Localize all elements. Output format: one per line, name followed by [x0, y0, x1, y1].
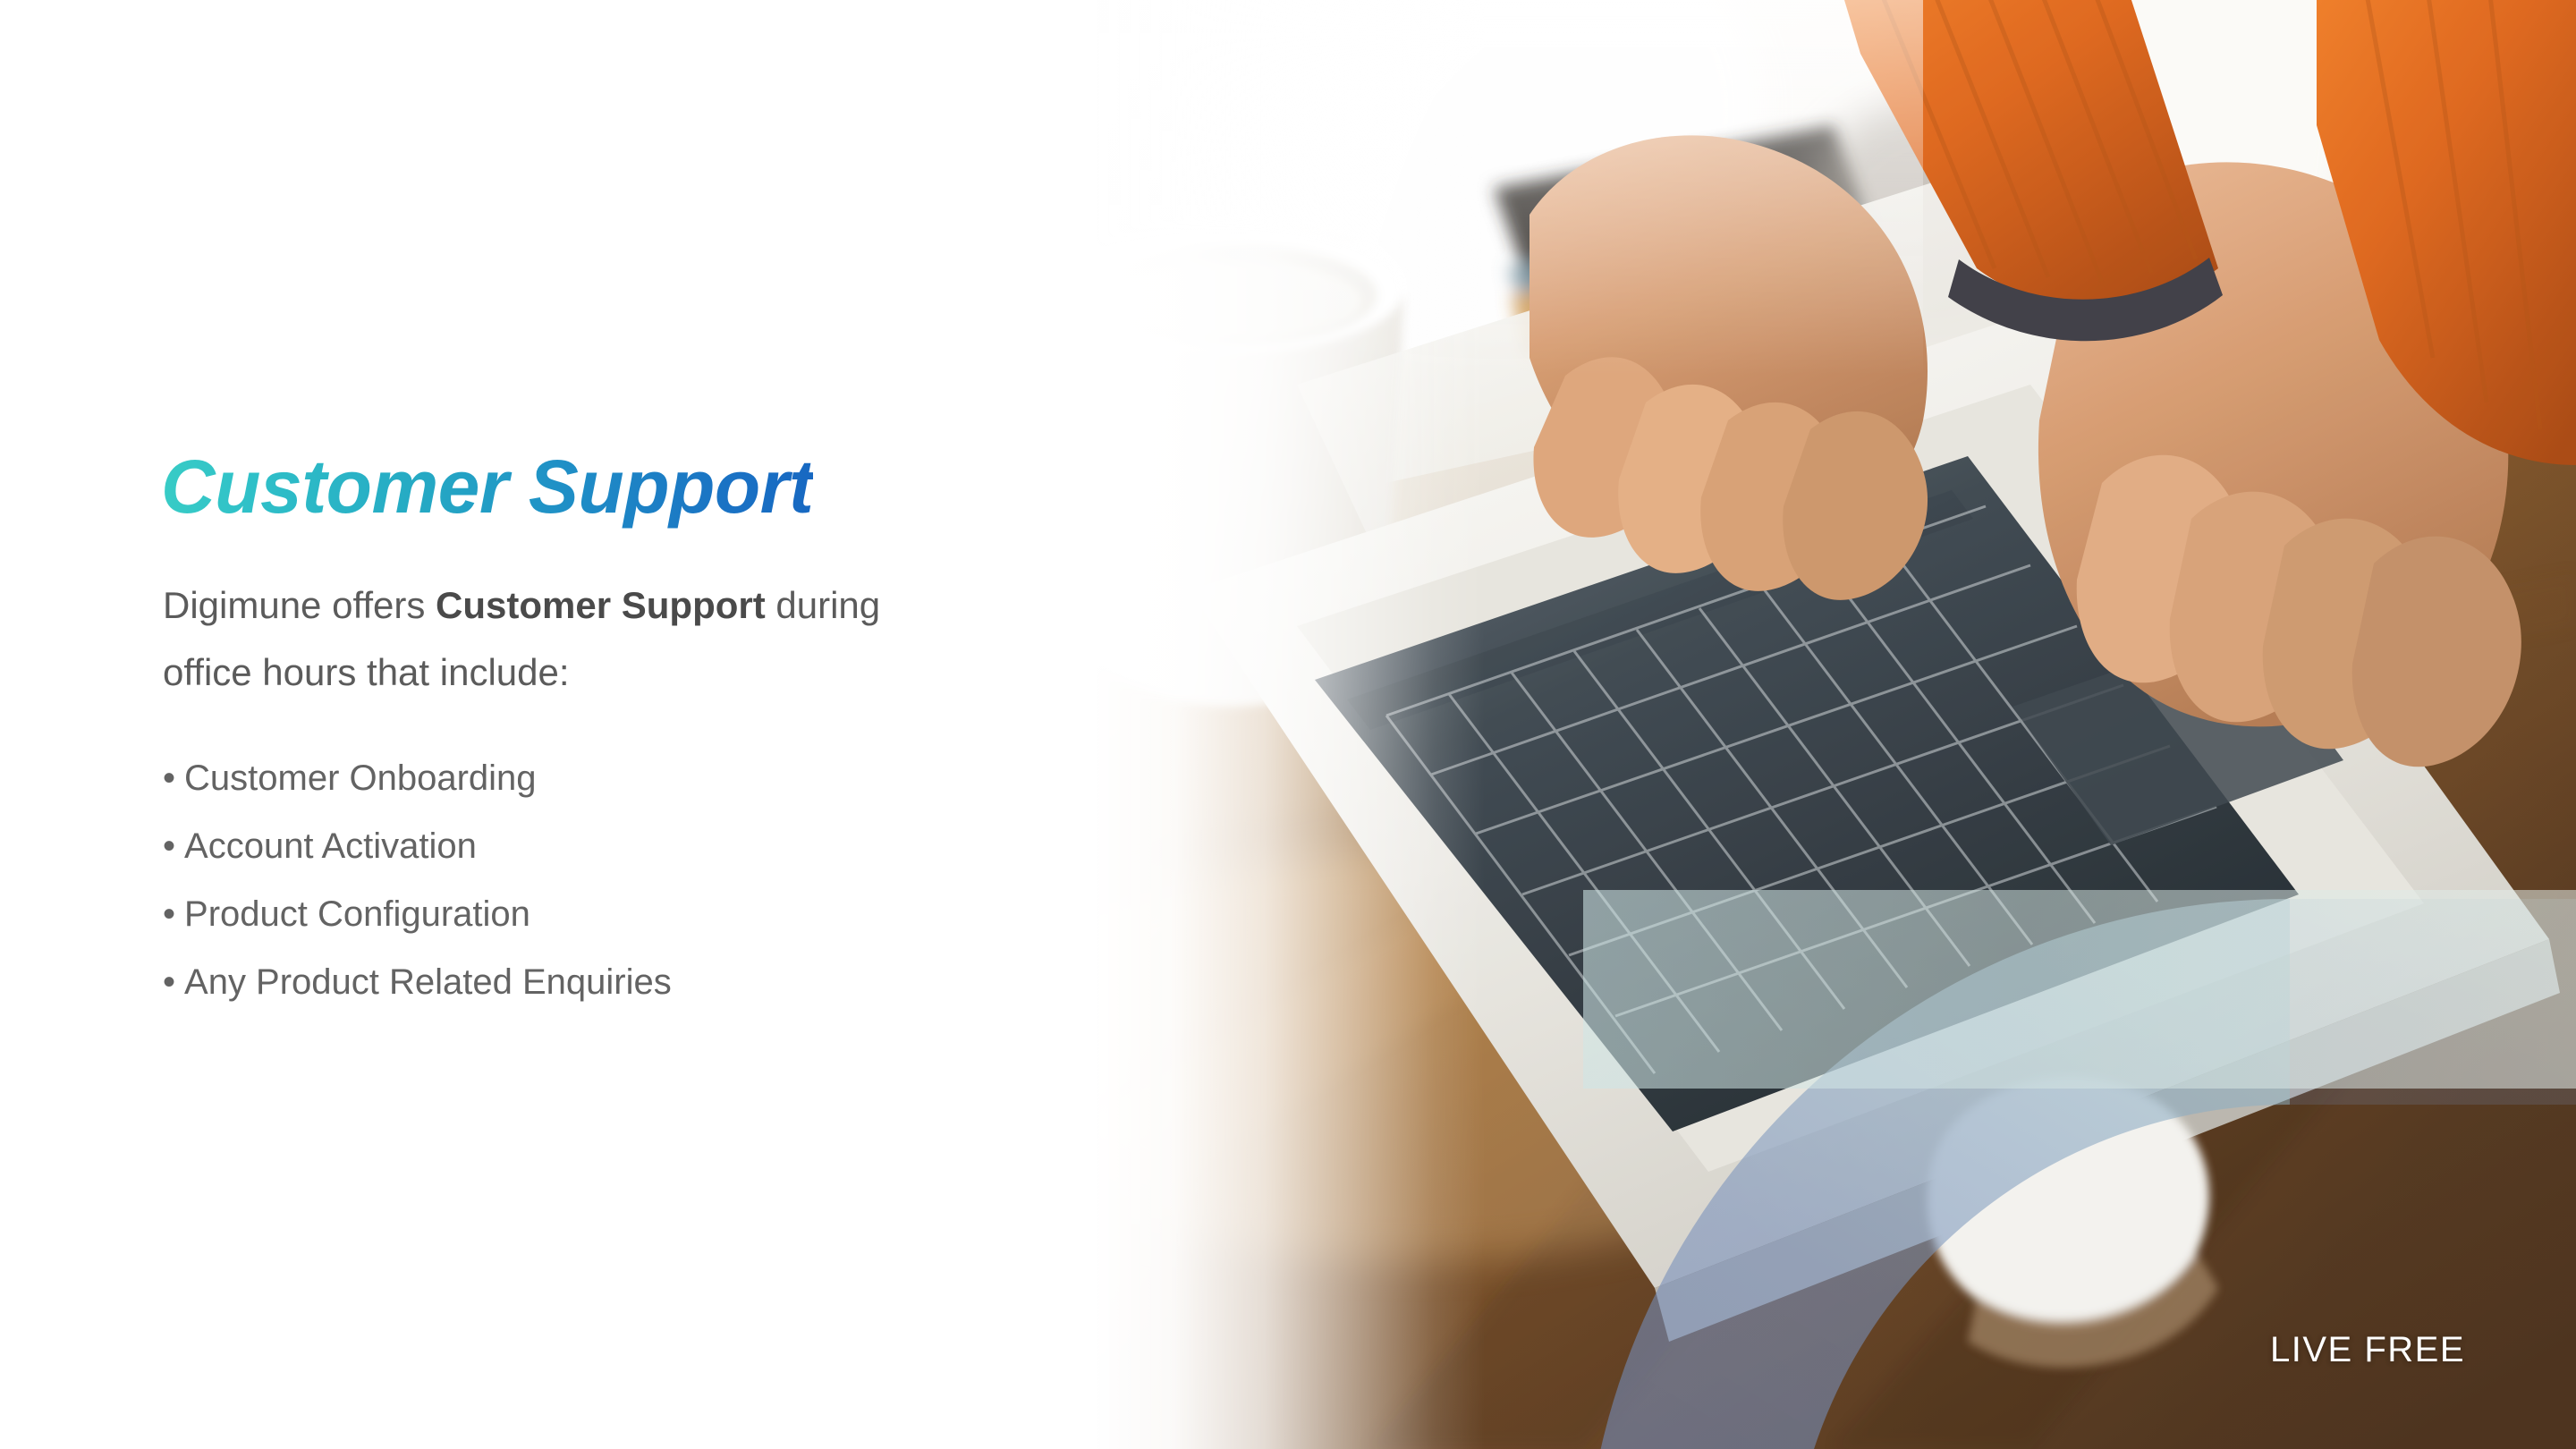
list-item-label: Account Activation [184, 826, 477, 866]
bullet-marker-icon: • [163, 826, 175, 866]
list-item-label: Product Configuration [184, 894, 530, 934]
support-services-list: •Customer Onboarding •Account Activation… [163, 744, 968, 1016]
list-item: •Product Configuration [163, 880, 968, 948]
intro-emphasis: Customer Support [436, 584, 766, 626]
bullet-marker-icon: • [163, 894, 175, 934]
digiguard-logo [70, 43, 410, 102]
hero-photo [1029, 0, 2576, 1449]
tagline: LIVE FREE [2270, 1330, 2465, 1370]
bullet-marker-icon: • [163, 962, 175, 1002]
list-item: •Any Product Related Enquiries [163, 948, 968, 1016]
list-item-label: Any Product Related Enquiries [184, 962, 672, 1002]
intro-paragraph: Digimune offers Customer Support during … [163, 572, 932, 706]
page-title: Customer Support [161, 444, 813, 530]
slide-canvas: Customer Support Digimune offers Custome… [0, 0, 2576, 1449]
list-item: •Account Activation [163, 812, 968, 880]
list-item-label: Customer Onboarding [184, 758, 537, 798]
list-item: •Customer Onboarding [163, 744, 968, 812]
intro-prefix: Digimune offers [163, 584, 436, 626]
bullet-marker-icon: • [163, 758, 175, 798]
